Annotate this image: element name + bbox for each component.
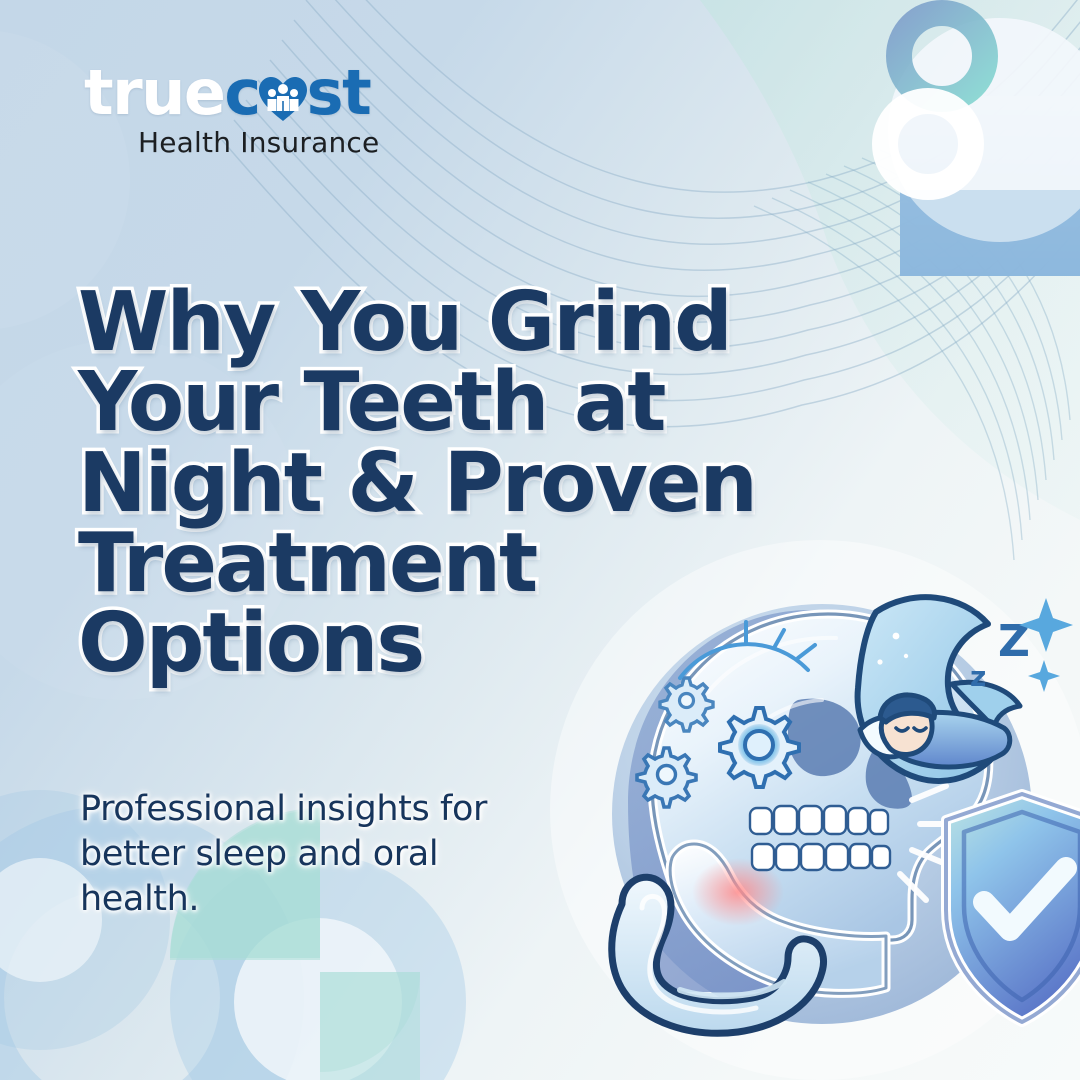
logo-tagline: Health Insurance (138, 126, 504, 159)
brand-logo[interactable]: truec st Health Insurance (84, 62, 504, 159)
logo-text-st: st (307, 62, 371, 124)
teeth-upper (750, 806, 888, 834)
logo-text-c: c (224, 62, 259, 124)
heart-family-icon (257, 68, 309, 118)
bruxism-skull-illustration: Z z (560, 552, 1080, 1072)
sparkle-star-small (1028, 660, 1060, 692)
gear-small-bottom (637, 748, 696, 807)
zzz-small-letter: z (970, 660, 986, 693)
headline-line-3: Night & Proven (78, 444, 798, 524)
logo-text-true: true (84, 62, 224, 124)
sleeper-head (880, 695, 935, 755)
headline-line-1: Why You Grind (78, 283, 798, 363)
shield-check-icon (946, 794, 1080, 1022)
sleeping-moon: Z z (858, 597, 1073, 781)
teeth-lower (752, 844, 890, 870)
headline-line-2: Your Teeth at (78, 363, 798, 443)
subtitle-text: Professional insights for better sleep a… (80, 787, 530, 921)
logo-wordmark: truec st (84, 62, 504, 124)
gear-small-top (660, 678, 713, 731)
gear-large (720, 708, 799, 787)
poster-canvas: truec st Health Insurance Why You Grind … (0, 0, 1080, 1080)
